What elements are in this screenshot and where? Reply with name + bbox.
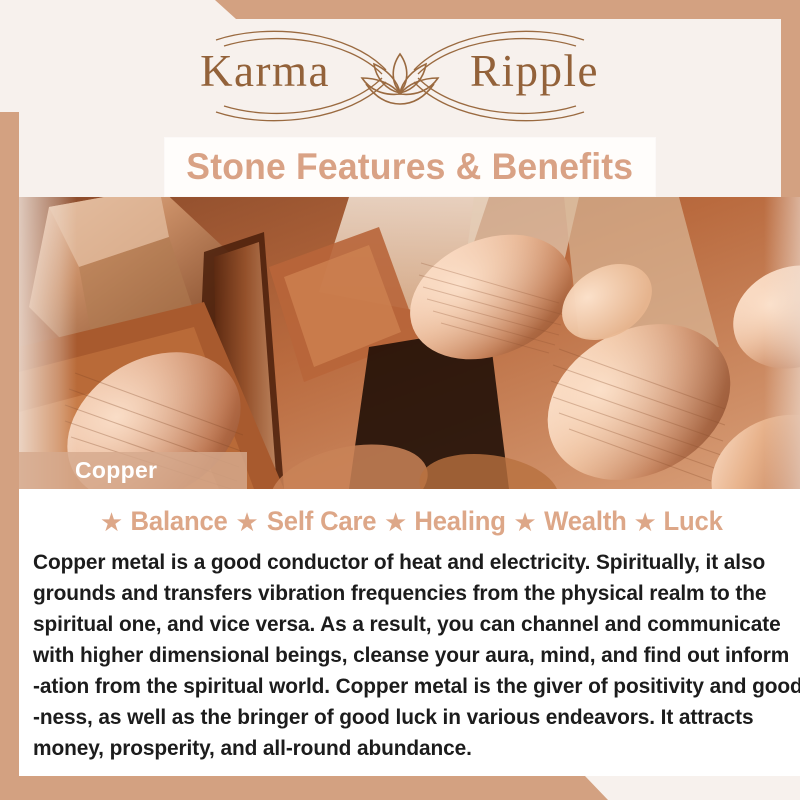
description-line: -ness, as well as the bringer of good lu… (33, 702, 763, 733)
photo-artwork (19, 197, 800, 489)
description-card: ★ Balance ★ Self Care ★ Healing ★ Wealth… (19, 489, 800, 776)
benefit-item: ★ Self Care (230, 506, 379, 537)
logo-artwork: Karma Ripple (180, 26, 620, 126)
product-infographic-page: Karma Ripple Stone Features & Benefits (0, 0, 800, 800)
benefit-item: ★ Balance (95, 506, 230, 537)
benefit-label: Luck (663, 506, 722, 537)
benefit-label: Healing (415, 506, 506, 537)
benefit-label: Self Care (267, 506, 377, 537)
photo-left-fade-overlay (19, 197, 77, 489)
frame-border-bottom (0, 776, 800, 800)
frame-border-top (0, 0, 800, 19)
description-line: -ation from the spiritual world. Copper … (33, 671, 763, 702)
star-icon: ★ (508, 509, 541, 535)
stone-name-label: Copper (19, 457, 157, 484)
description-line: grounds and transfers vibration frequenc… (33, 578, 763, 609)
lotus-icon (362, 54, 438, 104)
description-line: money, prosperity, and all-round abundan… (33, 733, 763, 764)
benefit-item: ★ Wealth (508, 506, 628, 537)
description-line: Copper metal is a good conductor of heat… (33, 547, 763, 578)
frame-border-left (0, 112, 19, 800)
star-icon: ★ (230, 509, 263, 535)
photo-right-fade-overlay (764, 197, 800, 489)
section-title-band: Stone Features & Benefits (165, 138, 655, 196)
page-title: Stone Features & Benefits (187, 146, 634, 188)
brand-name-right: Ripple (470, 46, 599, 96)
benefit-label: Wealth (544, 506, 626, 537)
star-icon: ★ (629, 509, 662, 535)
stone-name-bar: Copper (19, 452, 247, 489)
benefit-item: ★ Luck (629, 506, 725, 537)
star-icon: ★ (95, 509, 128, 535)
description-line: with higher dimensional beings, cleanse … (33, 640, 763, 671)
benefit-item: ★ Healing (379, 506, 508, 537)
description-line: spiritual one, and vice versa. As a resu… (33, 609, 763, 640)
copper-rods-photo (19, 197, 800, 489)
benefit-label: Balance (131, 506, 228, 537)
benefits-list: ★ Balance ★ Self Care ★ Healing ★ Wealth… (19, 489, 800, 537)
description-text: Copper metal is a good conductor of heat… (19, 547, 800, 764)
brand-logo: Karma Ripple (0, 24, 800, 128)
star-icon: ★ (379, 509, 412, 535)
brand-name-left: Karma (200, 46, 330, 96)
